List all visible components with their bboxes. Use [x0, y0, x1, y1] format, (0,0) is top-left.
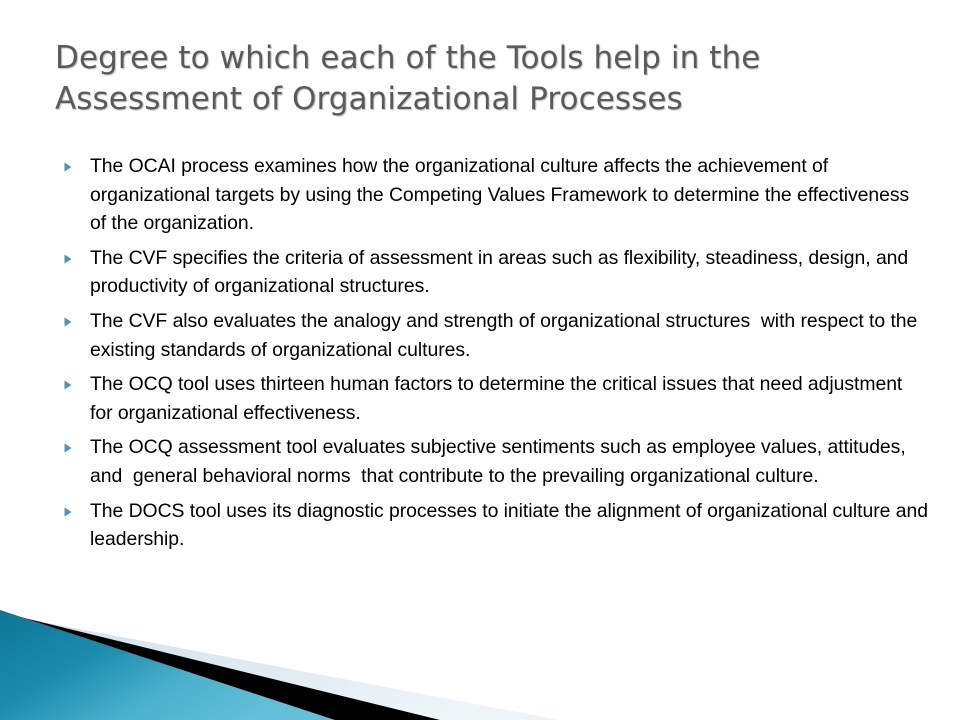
list-item: The CVF specifies the criteria of assess… [62, 244, 928, 301]
list-item: The DOCS tool uses its diagnostic proces… [62, 497, 928, 554]
triangle-right-icon [62, 244, 90, 265]
list-item: The OCQ tool uses thirteen human factors… [62, 370, 928, 427]
list-item: The OCQ assessment tool evaluates subjec… [62, 433, 928, 490]
triangle-right-icon [62, 152, 90, 173]
page-title: Degree to which each of the Tools help i… [55, 38, 885, 120]
triangle-right-icon [62, 307, 90, 328]
slide-canvas: Degree to which each of the Tools help i… [0, 0, 960, 720]
corner-pale-wedge [0, 614, 560, 720]
page-title-line-1: Degree to which each of the Tools help i… [55, 38, 885, 79]
list-item-text: The CVF specifies the criteria of assess… [90, 244, 928, 301]
triangle-right-icon [62, 370, 90, 391]
page-title-line-2: Assessment of Organizational Processes [55, 79, 885, 120]
list-item: The OCAI process examines how the organi… [62, 152, 928, 238]
list-item-text: The OCQ tool uses thirteen human factors… [90, 370, 928, 427]
list-item-text: The CVF also evaluates the analogy and s… [90, 307, 928, 364]
corner-black-stripe [0, 612, 440, 720]
triangle-right-icon [62, 497, 90, 518]
list-item: The CVF also evaluates the analogy and s… [62, 307, 928, 364]
bullet-list: The OCAI process examines how the organi… [62, 152, 928, 560]
corner-teal-triangle [0, 610, 335, 720]
corner-teal-texture [0, 610, 335, 720]
list-item-text: The DOCS tool uses its diagnostic proces… [90, 497, 928, 554]
list-item-text: The OCAI process examines how the organi… [90, 152, 928, 238]
bottom-left-corner-graphic [0, 600, 600, 720]
triangle-right-icon [62, 433, 90, 454]
list-item-text: The OCQ assessment tool evaluates subjec… [90, 433, 928, 490]
